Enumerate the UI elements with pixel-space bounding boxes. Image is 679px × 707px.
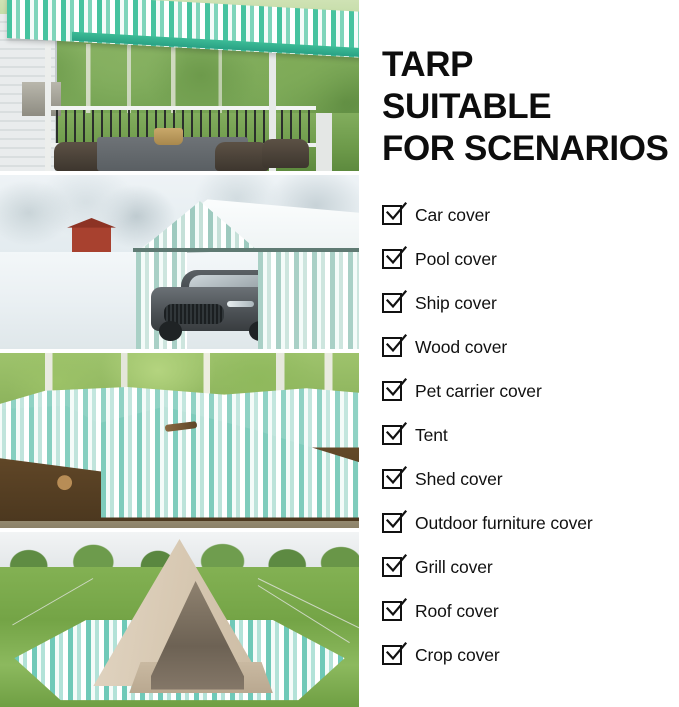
list-item: Tent [382, 413, 679, 457]
canopy-beam [133, 248, 359, 252]
list-item-label: Roof cover [415, 601, 499, 622]
list-item: Ship cover [382, 281, 679, 325]
photo-column [0, 0, 359, 707]
list-item-label: Wood cover [415, 337, 507, 358]
patio-chair [262, 139, 309, 168]
title-line-3: FOR SCENARIOS [382, 128, 679, 170]
table-planter [154, 128, 183, 145]
title-line-1: TARP [382, 44, 679, 86]
list-item: Pool cover [382, 237, 679, 281]
red-barn [72, 227, 111, 251]
checked-box-icon [382, 293, 402, 313]
list-item: Grill cover [382, 545, 679, 589]
car-wheel [159, 321, 182, 341]
list-item-label: Outdoor furniture cover [415, 513, 593, 534]
list-item: Car cover [382, 193, 679, 237]
list-item-label: Car cover [415, 205, 490, 226]
checked-box-icon [382, 425, 402, 445]
product-infographic: TARP SUITABLE FOR SCENARIOS Car cover Po… [0, 0, 679, 707]
list-item: Outdoor furniture cover [382, 501, 679, 545]
checked-box-icon [382, 337, 402, 357]
awning-post-left [45, 41, 51, 171]
list-item: Shed cover [382, 457, 679, 501]
list-item: Crop cover [382, 633, 679, 677]
checked-box-icon [382, 249, 402, 269]
list-item-label: Ship cover [415, 293, 497, 314]
photo-carport-snow [0, 175, 359, 349]
photo-teepee-tent [0, 532, 359, 707]
photo-deck-awning [0, 0, 359, 171]
list-item: Wood cover [382, 325, 679, 369]
checked-box-icon [382, 205, 402, 225]
scenario-list: Car cover Pool cover Ship cover Wood cov… [382, 193, 679, 677]
list-item-label: Shed cover [415, 469, 503, 490]
checked-box-icon [382, 601, 402, 621]
checked-box-icon [382, 513, 402, 533]
list-item-label: Crop cover [415, 645, 500, 666]
list-item-label: Pool cover [415, 249, 497, 270]
text-column: TARP SUITABLE FOR SCENARIOS Car cover Po… [382, 0, 679, 707]
car-headlight [227, 301, 254, 307]
checked-box-icon [382, 557, 402, 577]
list-item: Roof cover [382, 589, 679, 633]
page-title: TARP SUITABLE FOR SCENARIOS [382, 44, 679, 170]
title-line-2: SUITABLE [382, 86, 679, 128]
checked-box-icon [382, 381, 402, 401]
fence-post [316, 113, 332, 171]
canopy-wall-right [258, 250, 359, 349]
checked-box-icon [382, 469, 402, 489]
list-item-label: Pet carrier cover [415, 381, 542, 402]
list-item-label: Tent [415, 425, 448, 446]
list-item: Pet carrier cover [382, 369, 679, 413]
checked-box-icon [382, 645, 402, 665]
list-item-label: Grill cover [415, 557, 493, 578]
photo-firewood-tarp [0, 353, 359, 528]
